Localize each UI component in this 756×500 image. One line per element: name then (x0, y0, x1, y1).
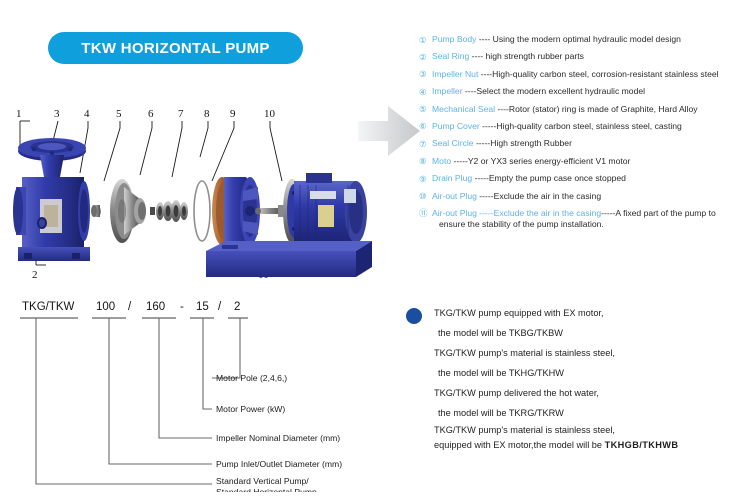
code-segment-family: TKG/TKW (22, 301, 75, 313)
callout-6: 6 (148, 108, 154, 120)
base-plate-part (206, 241, 372, 277)
part-name: Drain Plug (432, 173, 472, 183)
pump-body-part (13, 138, 90, 261)
part-name: Mechanical Seal (432, 104, 495, 114)
callout-2: 2 (32, 269, 38, 281)
page-title: TKW HORIZONTAL PUMP (81, 40, 269, 57)
code-label-pump-type-line2: Standard Horizontal Pump (216, 487, 317, 492)
part-detail: high strength rubber parts (486, 51, 584, 61)
part-row: ⑤ Mechanical Seal ----Rotor (stator) rin… (419, 104, 753, 116)
variant-final-prefix: equipped with EX motor,the model will be (434, 440, 605, 450)
part-lead: ---- (476, 34, 492, 44)
code-label-impeller-diameter: Impeller Nominal Diameter (mm) (216, 433, 340, 443)
code-segment-inlet: 100 (96, 301, 115, 313)
part-lead: ----- (472, 173, 489, 183)
part-description: Pump Body ---- Using the modern optimal … (432, 34, 753, 46)
pump-cover-part (212, 177, 260, 245)
callout-8: 8 (204, 108, 210, 120)
code-segment-impeller: 160 (146, 301, 165, 313)
part-name: Moto (432, 156, 451, 166)
part-lead: ----- (477, 208, 494, 218)
model-variants-panel: TKG/TKW pump equipped with EX motor, the… (404, 303, 754, 453)
variant-final-model: TKHGB/TKHWB (605, 440, 679, 450)
part-row: ③ Impeller Nut ----High-quality carbon s… (419, 69, 753, 81)
code-segment-power: 15 (196, 301, 209, 313)
part-detail: Exclude the air in the casing (494, 208, 602, 218)
callout-10: 10 (264, 108, 276, 120)
variant-line: the model will be TKHG/TKHW (404, 363, 754, 383)
part-number: ⑦ (419, 138, 432, 150)
code-label-motor-pole: Motor Pole (2,4,6,) (216, 373, 287, 383)
callout-5: 5 (116, 108, 122, 120)
part-lead: ----- (480, 121, 497, 131)
parts-specification-list: ① Pump Body ---- Using the modern optima… (419, 34, 753, 236)
page-title-banner: TKW HORIZONTAL PUMP (48, 32, 303, 64)
model-code-segments: TKG/TKW 100 / 160 - 15 / 2 (22, 301, 240, 313)
part-detail: Using the modern optimal hydraulic model… (493, 34, 681, 44)
part-number: ⑥ (419, 121, 432, 133)
part-lead: ---- (463, 86, 477, 96)
part-number: ⑤ (419, 104, 432, 116)
part-row: ⑦ Seal Circle -----High strength Rubber (419, 138, 753, 150)
part-detail: Exclude the air in the casing (494, 191, 602, 201)
flow-arrow-icon (358, 100, 424, 162)
part-lead: ---- (495, 104, 509, 114)
variant-line: TKG/TKW pump's material is stainless ste… (404, 343, 754, 363)
callout-9: 9 (230, 108, 236, 120)
part-description: Impeller ----Select the modern excellent… (432, 86, 753, 98)
code-separator-2: - (180, 301, 184, 313)
part-name: Pump Body (432, 34, 476, 44)
part-number: ③ (419, 69, 432, 81)
part-description: Pump Cover -----High-quality carbon stee… (432, 121, 753, 133)
code-labels: Motor Pole (2,4,6,) Motor Power (kW) Imp… (216, 373, 342, 492)
part-number: ① (419, 34, 432, 46)
code-label-inlet-diameter: Pump Inlet/Outlet Diameter (mm) (216, 459, 342, 469)
part-lead: ---- (478, 69, 492, 79)
part-number: ⑧ (419, 156, 432, 168)
exploded-pump-diagram: 1 2 3 4 5 6 7 8 9 10 11 (0, 95, 400, 290)
part-name: Pump Cover (432, 121, 480, 131)
variant-line: the model will be TKBG/TKBW (404, 323, 754, 343)
part-detail: High strength Rubber (490, 138, 572, 148)
part-name: Air-out Plug (432, 191, 477, 201)
part-detail: Rotor (stator) ring is made of Graphite,… (509, 104, 698, 114)
callout-3: 3 (54, 108, 60, 120)
code-label-pump-type-line1: Standard Vertical Pump/ (216, 476, 309, 486)
callout-4: 4 (84, 108, 90, 120)
part-row: ⑧ Moto -----Y2 or YX3 series energy-effi… (419, 156, 753, 168)
part-description: Moto -----Y2 or YX3 series energy-effici… (432, 156, 753, 168)
callout-7: 7 (178, 108, 184, 120)
part-row: ⑨ Drain Plug -----Empty the pump case on… (419, 173, 753, 185)
seal-circle-part (194, 181, 210, 241)
part-row: ⑪ Air-out Plug -----Exclude the air in t… (419, 208, 753, 231)
part-number: ② (419, 51, 432, 63)
part-number: ⑪ (419, 208, 432, 220)
part-detail-tail: -----A fixed part of the pump to (601, 208, 716, 218)
impeller-part (110, 179, 146, 243)
part-description: Mechanical Seal ----Rotor (stator) ring … (432, 104, 753, 116)
part-row: ⑥ Pump Cover -----High-quality carbon st… (419, 121, 753, 133)
part-name: Impeller Nut (432, 69, 478, 79)
code-leader-lines (36, 318, 240, 484)
part-row: ① Pump Body ---- Using the modern optima… (419, 34, 753, 46)
part-lead: ----- (477, 191, 494, 201)
part-description: Air-out Plug -----Exclude the air in the… (432, 191, 753, 203)
model-code-breakdown: TKG/TKW 100 / 160 - 15 / 2 (16, 296, 404, 492)
impeller-nut-part (91, 205, 101, 217)
mechanical-seal-part (150, 200, 188, 222)
part-detail-continuation: ensure the stability of the pump install… (432, 219, 753, 231)
part-number: ⑨ (419, 173, 432, 185)
code-label-motor-power: Motor Power (kW) (216, 404, 285, 414)
part-row: ⑩ Air-out Plug -----Exclude the air in t… (419, 191, 753, 203)
variant-line: TKG/TKW pump's material is stainless ste… (404, 423, 754, 438)
part-row: ④ Impeller ----Select the modern excelle… (419, 86, 753, 98)
part-detail: Y2 or YX3 series energy-efficient V1 mot… (468, 156, 631, 166)
bullet-dot-icon (406, 308, 422, 324)
part-description: Impeller Nut ----High-quality carbon ste… (432, 69, 753, 81)
part-name: Seal Ring (432, 51, 469, 61)
part-detail: Select the modern excellent hydraulic mo… (476, 86, 645, 96)
part-description: Seal Circle -----High strength Rubber (432, 138, 753, 150)
code-separator-1: / (128, 301, 132, 313)
variant-line: TKG/TKW pump equipped with EX motor, (404, 303, 754, 323)
part-description: Drain Plug -----Empty the pump case once… (432, 173, 753, 185)
code-segment-pole: 2 (234, 301, 240, 313)
part-name: Air-out Plug (432, 208, 477, 218)
code-separator-3: / (218, 301, 222, 313)
variant-line-final: equipped with EX motor,the model will be… (404, 438, 754, 453)
part-row: ② Seal Ring ---- high strength rubber pa… (419, 51, 753, 63)
part-detail: High-quality carbon steel, stainless ste… (496, 121, 681, 131)
part-name: Seal Circle (432, 138, 474, 148)
part-name: Impeller (432, 86, 463, 96)
part-detail: High-quality carbon steel, corrosion-res… (492, 69, 718, 79)
part-lead: ----- (474, 138, 491, 148)
callout-1: 1 (16, 108, 22, 120)
part-detail: Empty the pump case once stopped (489, 173, 626, 183)
variant-line: TKG/TKW pump delivered the hot water, (404, 383, 754, 403)
part-description: Seal Ring ---- high strength rubber part… (432, 51, 753, 63)
part-lead: ---- (469, 51, 485, 61)
part-description: Air-out Plug -----Exclude the air in the… (432, 208, 753, 231)
variant-line: the model will be TKRG/TKRW (404, 403, 754, 423)
part-number: ④ (419, 86, 432, 98)
motor-part (283, 173, 367, 251)
part-number: ⑩ (419, 191, 432, 203)
part-lead: ----- (451, 156, 468, 166)
